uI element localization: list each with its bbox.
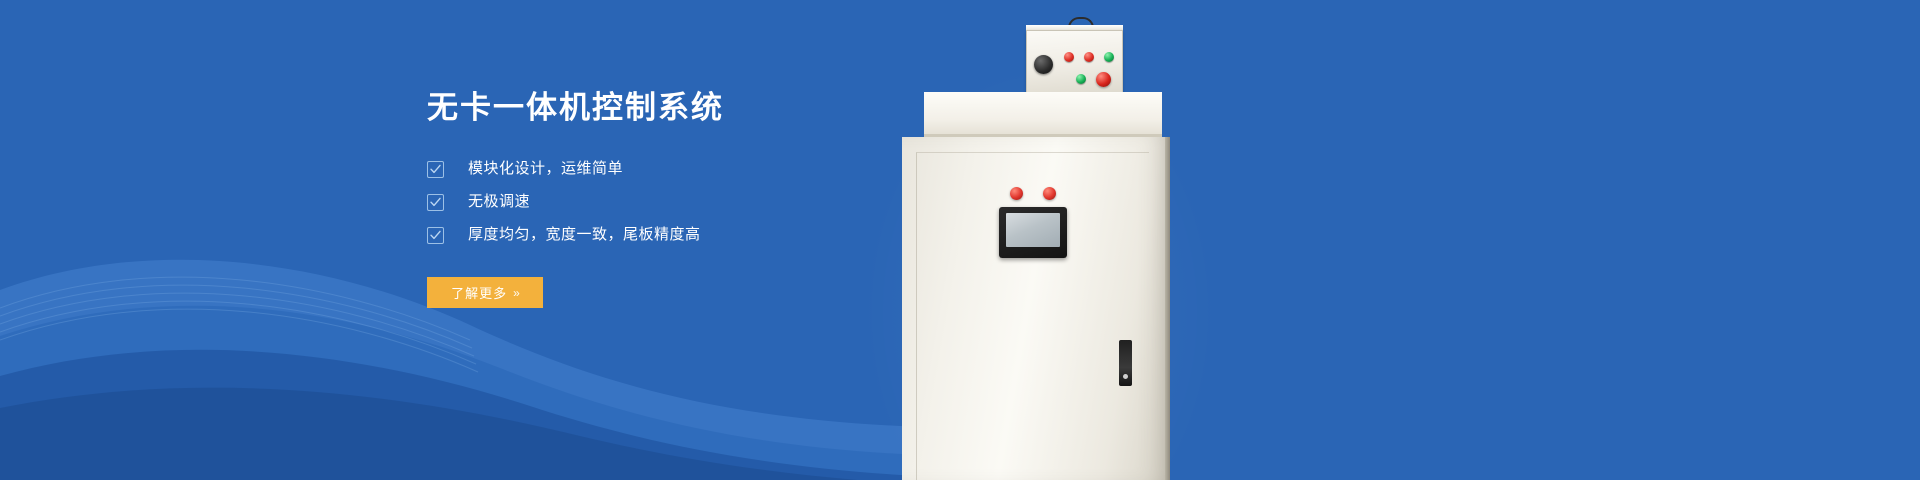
list-item: 厚度均匀，宽度一致，尾板精度高 bbox=[427, 224, 1047, 246]
checkbox-checked-icon bbox=[427, 161, 444, 178]
list-item: 模块化设计，运维简单 bbox=[427, 158, 1047, 180]
learn-more-button[interactable]: 了解更多 » bbox=[427, 277, 543, 308]
feature-list: 模块化设计，运维简单 无极调速 厚度均匀，宽度一致，尾板精度高 bbox=[427, 158, 1047, 246]
chevron-right-icon: » bbox=[513, 286, 519, 300]
button-green-1 bbox=[1104, 52, 1114, 62]
button-red-2 bbox=[1084, 52, 1094, 62]
feature-label: 模块化设计，运维简单 bbox=[468, 158, 623, 180]
feature-label: 无极调速 bbox=[468, 191, 530, 213]
cabinet-side-panel bbox=[1165, 137, 1170, 480]
hero-content: 无卡一体机控制系统 模块化设计，运维简单 无极调速 bbox=[427, 88, 1047, 308]
checkbox-checked-icon bbox=[427, 227, 444, 244]
button-green-2 bbox=[1076, 74, 1086, 84]
button-red-emergency bbox=[1096, 72, 1111, 87]
hero-banner: 无卡一体机控制系统 模块化设计，运维简单 无极调速 bbox=[0, 0, 1920, 480]
door-handle bbox=[1119, 340, 1132, 386]
list-item: 无极调速 bbox=[427, 191, 1047, 213]
learn-more-label: 了解更多 bbox=[451, 283, 507, 302]
page-title: 无卡一体机控制系统 bbox=[427, 88, 1047, 128]
checkbox-checked-icon bbox=[427, 194, 444, 211]
door-lock-dot bbox=[1123, 374, 1128, 379]
rotary-selector-knob bbox=[1034, 55, 1053, 74]
feature-label: 厚度均匀，宽度一致，尾板精度高 bbox=[468, 224, 701, 246]
button-red-1 bbox=[1064, 52, 1074, 62]
